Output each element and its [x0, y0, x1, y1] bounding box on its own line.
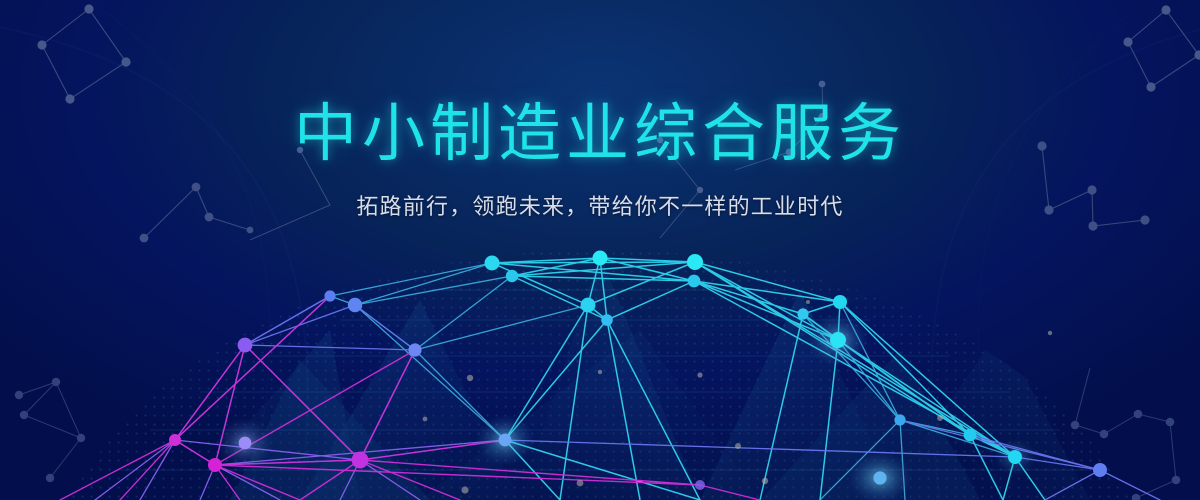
dome-network-graphic — [0, 0, 1200, 500]
network-edges-magenta — [60, 296, 760, 500]
background-specks — [423, 300, 1053, 494]
network-edges-cyan — [330, 258, 1045, 500]
node-glow-halos — [216, 313, 1037, 500]
hero-banner: 中小制造业综合服务 拓路前行，领跑未来，带给你不一样的工业时代 — [0, 0, 1200, 500]
